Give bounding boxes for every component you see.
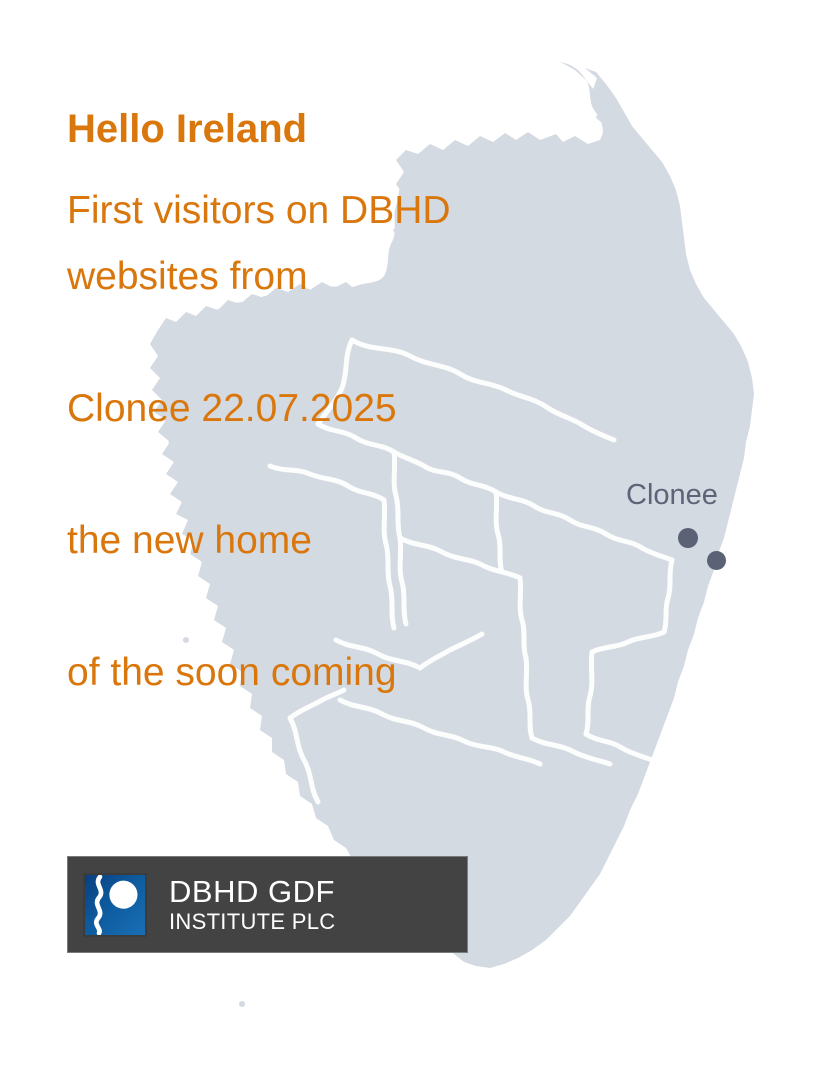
wave-glyph: [96, 876, 101, 932]
message-line-4: the new home: [67, 508, 627, 574]
logo-title: DBHD GDF: [169, 876, 335, 907]
logo-wordmark: DBHD GDF INSTITUTE PLC: [169, 876, 335, 933]
message-line-1: First visitors on DBHD: [67, 178, 627, 244]
dbhd-wave-sun-mark-icon: [83, 873, 147, 937]
message-line-3: Clonee 22.07.2025: [67, 376, 627, 442]
poster-canvas: Clonee Hello Ireland First visitors on D…: [0, 0, 831, 1080]
message-line-2: websites from: [67, 244, 627, 310]
message-block: Hello Ireland First visitors on DBHD web…: [67, 104, 627, 706]
message-spacer-2: [67, 442, 627, 508]
sun-glyph: [109, 880, 137, 908]
logo-subtitle: INSTITUTE PLC: [169, 911, 335, 933]
message-spacer-1: [67, 310, 627, 376]
dbhd-logo-bar[interactable]: DBHD GDF INSTITUTE PLC: [67, 856, 468, 953]
message-line-5: of the soon coming: [67, 640, 627, 706]
message-spacer-3: [67, 574, 627, 640]
islet-5: [239, 1001, 245, 1007]
page-title: Hello Ireland: [67, 104, 627, 154]
